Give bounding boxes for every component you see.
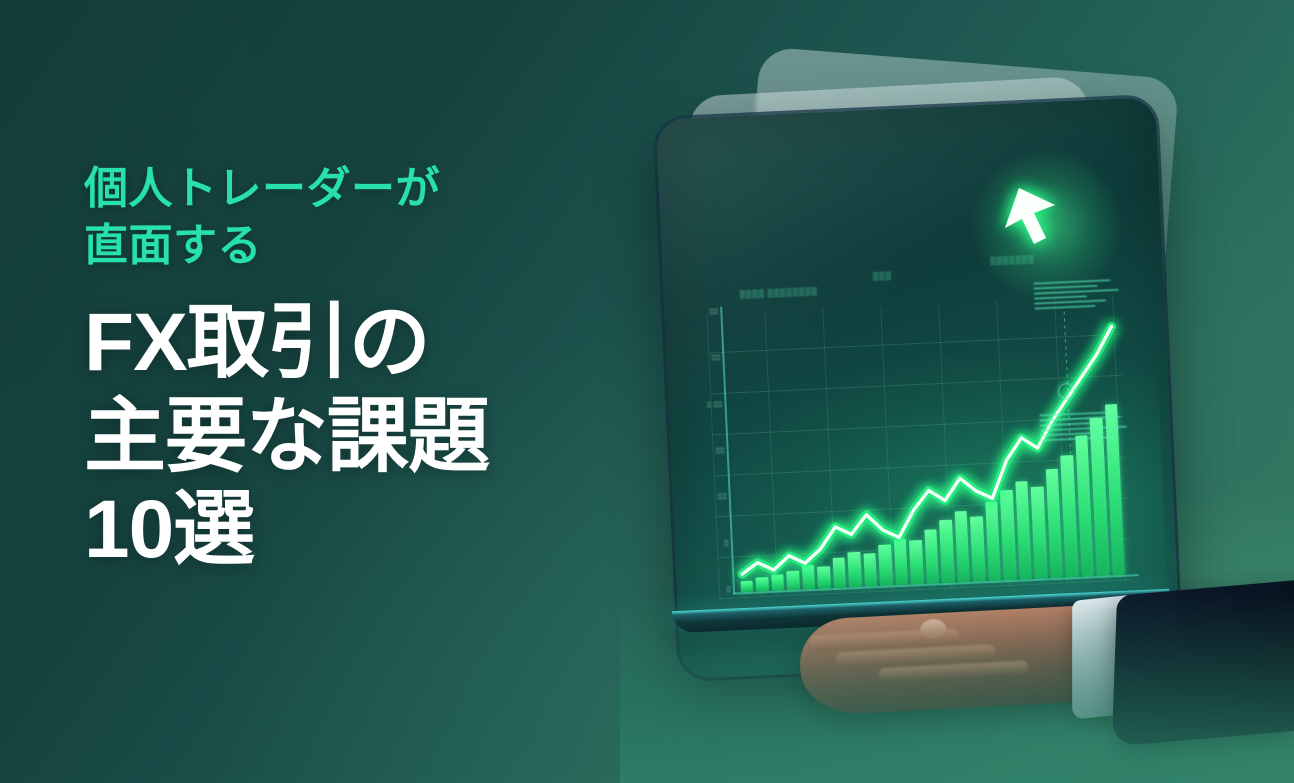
chart-annotation-mid: ▒▒▒ bbox=[873, 271, 892, 281]
poster-canvas: ▒▒ ▒▒ ▒ ▒▒ ▒▒ ▒▒ ▒ ▒ bbox=[0, 0, 1294, 783]
hero-illustration: ▒▒ ▒▒ ▒ ▒▒ ▒▒ ▒▒ ▒ ▒ bbox=[620, 0, 1294, 783]
hero-eyebrow: 個人トレーダーが 直面する bbox=[84, 160, 644, 274]
chart-side-text-top bbox=[1033, 278, 1126, 312]
chart-side-text-bottom bbox=[1039, 410, 1132, 444]
chart-annotation-left: ▒▒▒▒ ▒▒▒▒▒▒▒▒ bbox=[739, 286, 817, 299]
hero-text-block: 個人トレーダーが 直面する FX取引の 主要な課題 10選 bbox=[84, 160, 644, 577]
chart-annotation-right: ▒▒▒▒▒▒▒ bbox=[990, 255, 1034, 266]
chart-trend-line bbox=[706, 295, 1131, 599]
chart-canvas: ▒▒ ▒▒ ▒ ▒▒ ▒▒ ▒▒ ▒ ▒ bbox=[706, 295, 1131, 599]
suit-sleeve bbox=[1112, 579, 1294, 747]
page-title: FX取引の 主要な課題 10選 bbox=[84, 296, 644, 576]
